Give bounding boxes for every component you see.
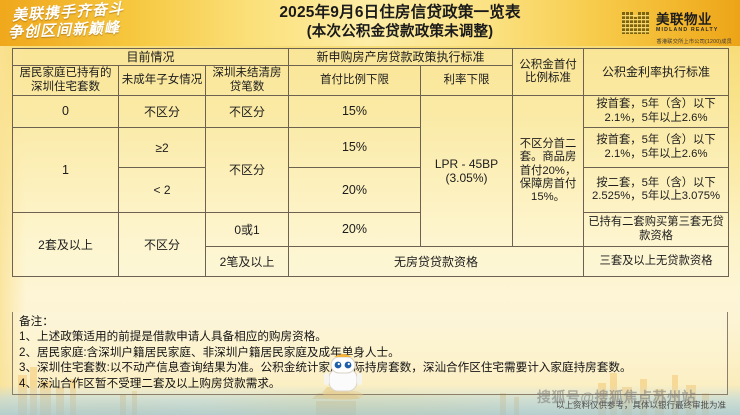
logo-subtitle: 香港联交所上市公司(1200)成员 (657, 38, 732, 45)
table-group-header-row: 目前情况 新申购房产房贷款政策执行标准 公积金首付比例标准 公积金利率执行标准 (13, 49, 729, 66)
slogan-line-2: 争创区间新巅峰 (8, 21, 121, 41)
cell-fund-rate: 按二套，5年（含）以下2.525%，5年以上3.075% (584, 168, 729, 213)
calligraphy-slogan: 美联携手齐奋斗 争创区间新巅峰 (8, 2, 166, 46)
cell-fund-rate: 三套及以上无贷款资格 (584, 247, 729, 277)
col-header-owned-units: 居民家庭已持有的深圳住宅套数 (13, 66, 119, 96)
cell-unsettled-loans: 0或1 (206, 213, 289, 247)
logo-name-cn: 美联物业 (656, 13, 719, 27)
rate-line-1: LPR - 45BP (423, 157, 510, 171)
col-header-minor-children: 未成年子女情况 (119, 66, 206, 96)
cell-unsettled-loans: 不区分 (206, 128, 289, 213)
footer-disclaimer: 以上资料仅供参考，具体以银行最终审批为准 (0, 399, 740, 411)
cell-minor-children: ≥2 (119, 128, 206, 168)
group-header-new-purchase: 新申购房产房贷款政策执行标准 (289, 49, 513, 66)
policy-infographic: 美联携手齐奋斗 争创区间新巅峰 2025年9月6日住房信贷政策一览表 (本次公积… (0, 0, 740, 415)
group-header-fund-rate: 公积金利率执行标准 (584, 49, 729, 96)
title-line-2: (本次公积金贷款政策未调整) (175, 23, 625, 42)
cell-rate-min: LPR - 45BP (3.05%) (421, 96, 513, 247)
note-item-3: 3、深圳住宅套数:以不动产信息查询结果为准。公积金统计家庭实际持房套数，深汕合作… (19, 360, 723, 375)
table-row: 0 不区分 不区分 15% LPR - 45BP (3.05%) 不区分首二套。… (13, 96, 729, 128)
cell-minor-children: 不区分 (119, 213, 206, 277)
group-header-fund-downpayment: 公积金首付比例标准 (513, 49, 584, 96)
cell-fund-rate: 按首套，5年（含）以下2.1%，5年以上2.6% (584, 128, 729, 168)
note-item-4: 4、深汕合作区暂不受理二套及以上购房贷款需求。 (19, 376, 723, 391)
table-body: 0 不区分 不区分 15% LPR - 45BP (3.05%) 不区分首二套。… (13, 96, 729, 277)
cell-downpayment: 20% (289, 213, 421, 247)
cell-downpayment: 15% (289, 128, 421, 168)
title-line-1: 2025年9月6日住房信贷政策一览表 (175, 3, 625, 23)
cell-fund-rate: 已持有二套购买第三套无贷款资格 (584, 213, 729, 247)
cell-minor-children: < 2 (119, 168, 206, 213)
logo-name-en: MIDLAND REALTY (656, 28, 719, 33)
cell-owned-units: 1 (13, 128, 119, 213)
notes-title: 备注： (19, 314, 723, 329)
cell-owned-units: 0 (13, 96, 119, 128)
policy-table-wrap: 目前情况 新申购房产房贷款政策执行标准 公积金首付比例标准 公积金利率执行标准 … (12, 48, 728, 277)
cell-unsettled-loans: 2笔及以上 (206, 247, 289, 277)
midland-logo-mark-icon (622, 10, 652, 36)
group-header-current-situation: 目前情况 (13, 49, 289, 66)
col-header-unsettled-loans: 深圳未结清房贷笔数 (206, 66, 289, 96)
col-header-downpayment-min: 首付比例下限 (289, 66, 421, 96)
cell-fund-downpayment: 不区分首二套。商品房首付20%，保障房首付15%。 (513, 96, 584, 247)
cell-owned-units: 2套及以上 (13, 213, 119, 277)
page-title: 2025年9月6日住房信贷政策一览表 (本次公积金贷款政策未调整) (175, 3, 625, 42)
logo-text-block: 美联物业 MIDLAND REALTY (656, 13, 719, 34)
col-header-rate-min: 利率下限 (421, 66, 513, 96)
cell-fund-rate: 按首套，5年（含）以下2.1%，5年以上2.6% (584, 96, 729, 128)
cell-no-mortgage-qualification: 无房贷贷款资格 (289, 247, 584, 277)
midland-realty-logo: 美联物业 MIDLAND REALTY 香港联交所上市公司(1200)成员 (622, 2, 734, 44)
rate-line-2: (3.05%) (423, 171, 510, 185)
note-item-1: 1、上述政策适用的前提是借款申请人具备相应的购房资格。 (19, 329, 723, 344)
cell-minor-children: 不区分 (119, 96, 206, 128)
policy-table: 目前情况 新申购房产房贷款政策执行标准 公积金首付比例标准 公积金利率执行标准 … (12, 48, 729, 277)
cell-unsettled-loans: 不区分 (206, 96, 289, 128)
header-banner: 美联携手齐奋斗 争创区间新巅峰 2025年9月6日住房信贷政策一览表 (本次公积… (0, 0, 740, 46)
table-row: 2套及以上 不区分 0或1 20% 已持有二套购买第三套无贷款资格 (13, 213, 729, 247)
table-row: 1 ≥2 不区分 15% 按首套，5年（含）以下2.1%，5年以上2.6% (13, 128, 729, 168)
notes-box: 备注： 1、上述政策适用的前提是借款申请人具备相应的购房资格。 2、居民家庭:含… (12, 312, 728, 395)
cell-downpayment: 15% (289, 96, 421, 128)
table-row: < 2 20% 按二套，5年（含）以下2.525%，5年以上3.075% (13, 168, 729, 213)
table-head: 目前情况 新申购房产房贷款政策执行标准 公积金首付比例标准 公积金利率执行标准 … (13, 49, 729, 96)
cell-downpayment: 20% (289, 168, 421, 213)
note-item-2: 2、居民家庭:含深圳户籍居民家庭、非深圳户籍居民家庭及成年单身人士。 (19, 345, 723, 360)
